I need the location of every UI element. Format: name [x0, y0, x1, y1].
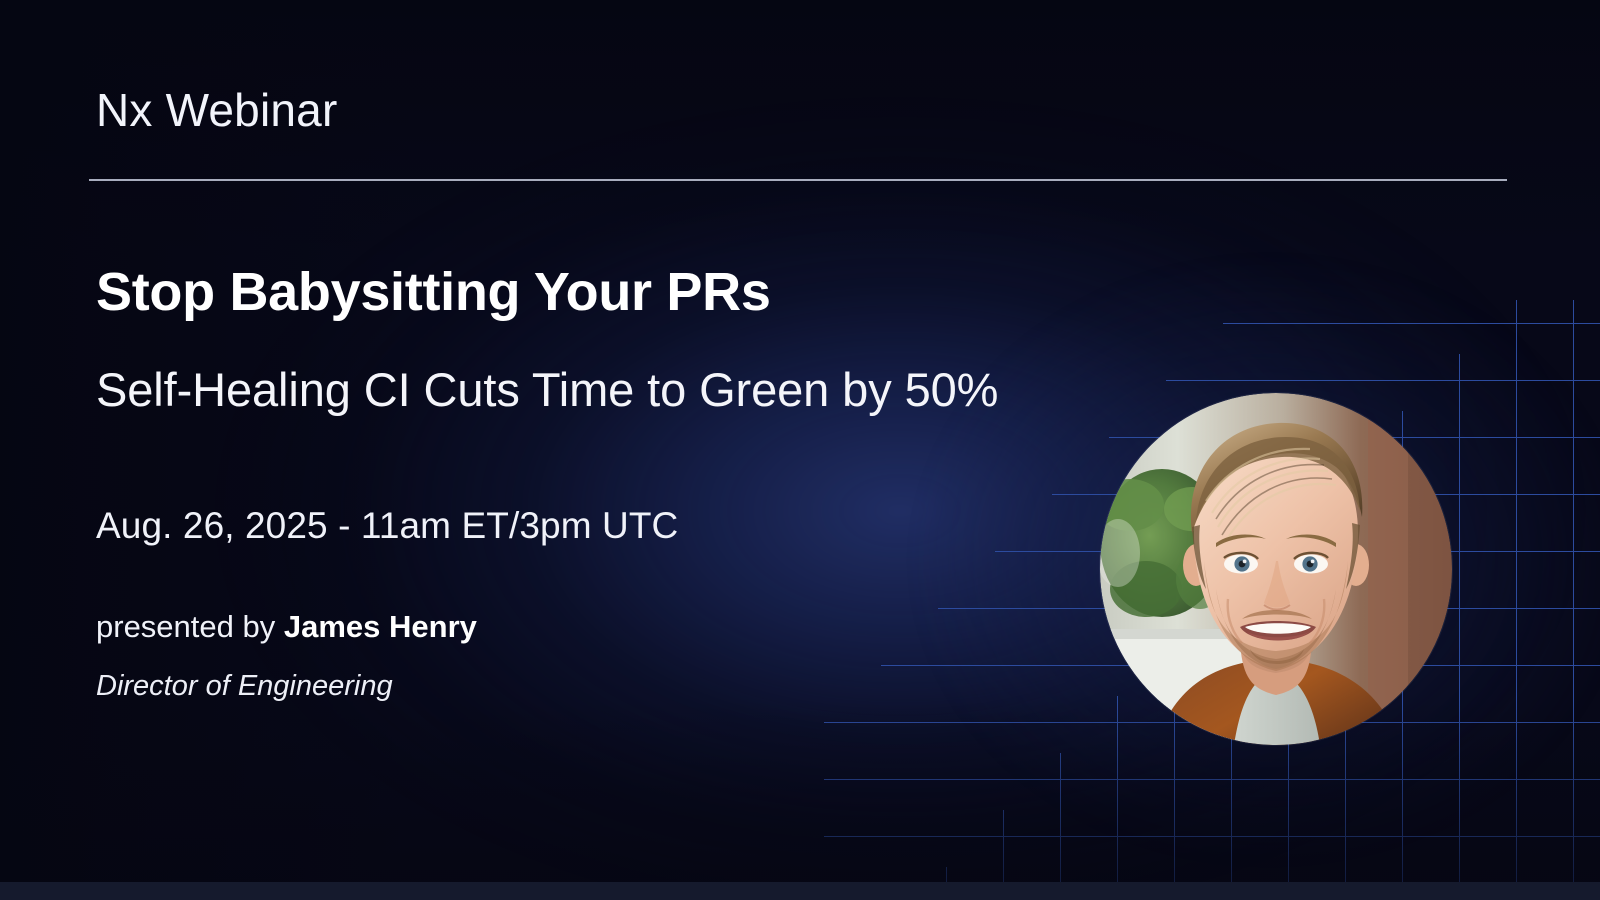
banner-content: Nx Webinar Stop Babysitting Your PRs Sel…: [96, 0, 1156, 900]
webinar-datetime: Aug. 26, 2025 - 11am ET/3pm UTC: [96, 504, 678, 548]
presenter-role: Director of Engineering: [96, 668, 393, 704]
webinar-kicker: Nx Webinar: [96, 86, 337, 134]
headshot-portrait-icon: [1100, 393, 1452, 745]
webinar-subtitle: Self-Healing CI Cuts Time to Green by 50…: [96, 354, 1106, 425]
webinar-title: Stop Babysitting Your PRs: [96, 264, 771, 321]
avatar: [1100, 393, 1452, 745]
header-divider: [89, 179, 1507, 181]
bottom-strip: [0, 882, 1600, 900]
presented-by-label: presented by: [96, 609, 284, 644]
webinar-promo-banner: Nx Webinar Stop Babysitting Your PRs Sel…: [0, 0, 1600, 900]
presenter-line: presented by James Henry: [96, 608, 477, 647]
presenter-name: James Henry: [284, 609, 477, 644]
